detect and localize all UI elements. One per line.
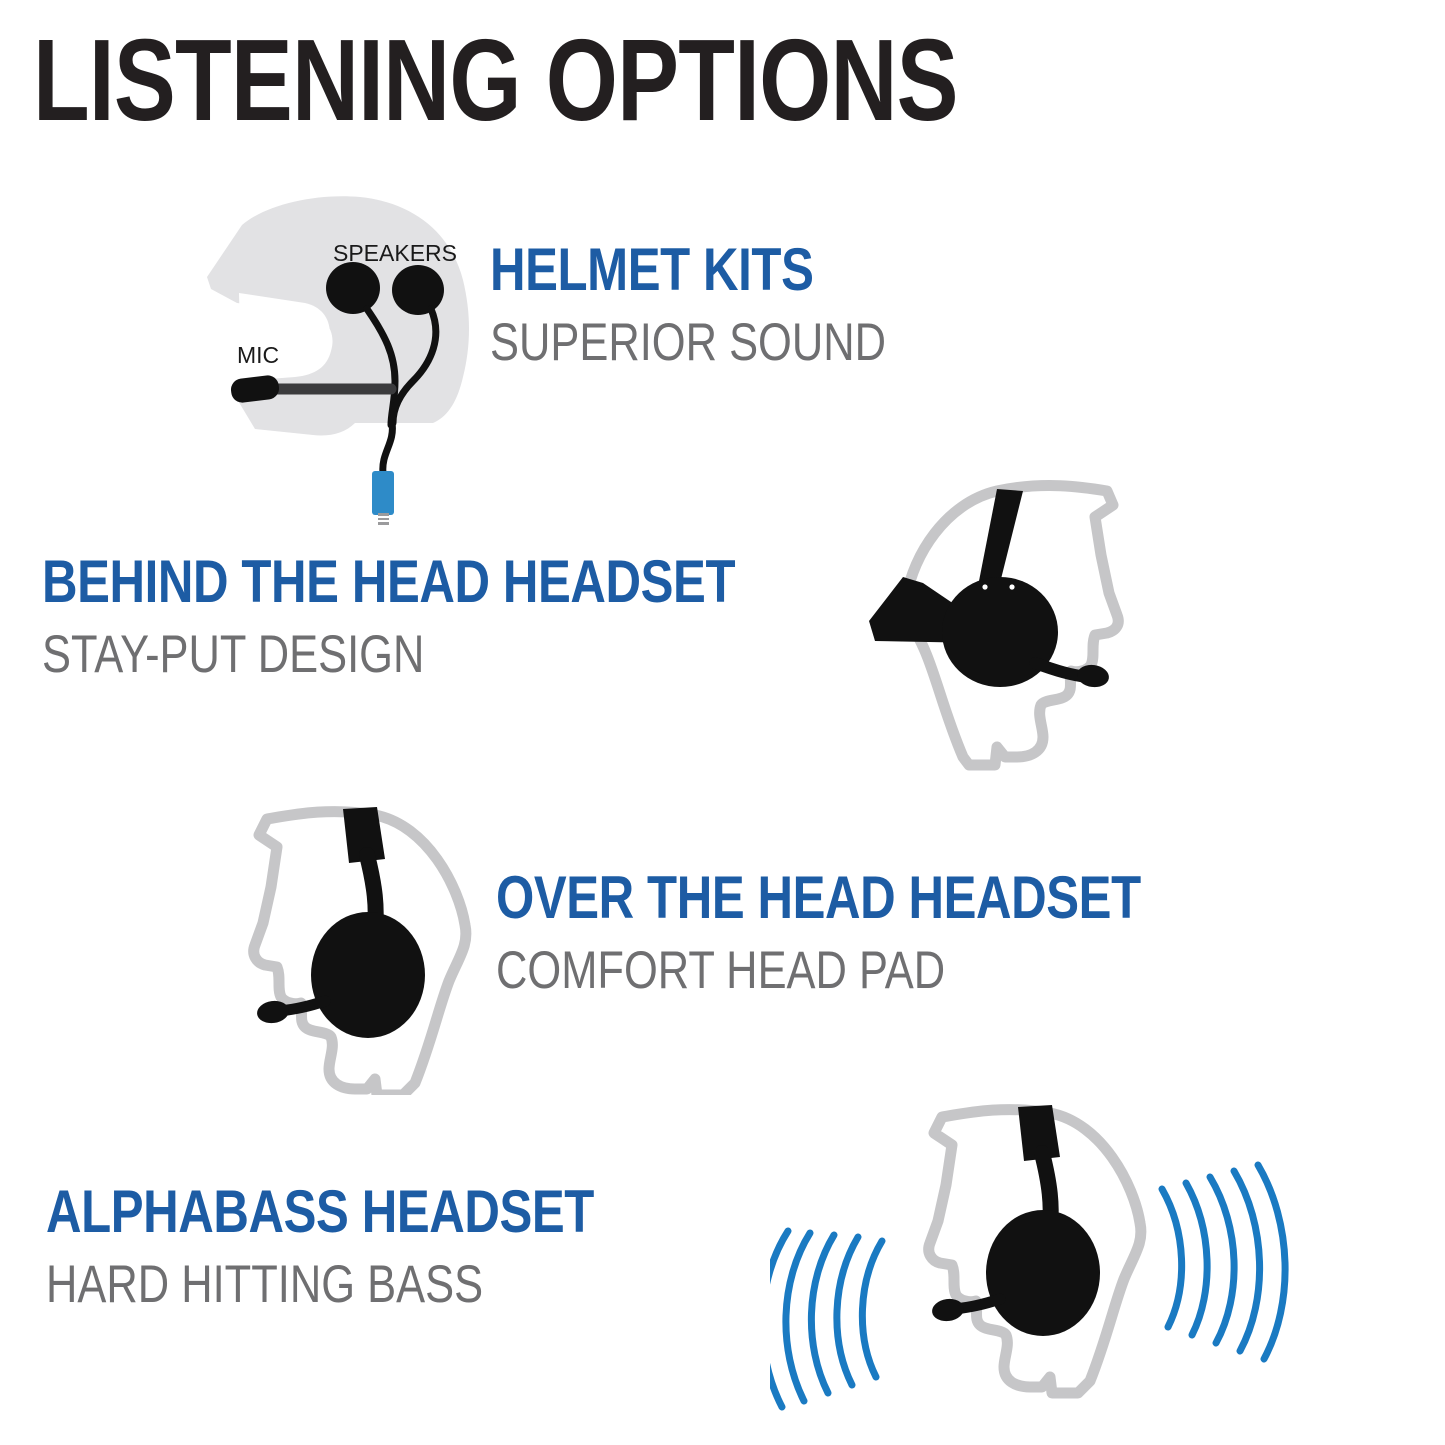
audio-jack-tip bbox=[378, 513, 389, 525]
infographic-canvas: LISTENING OPTIONS SPEAKERS MIC bbox=[0, 0, 1445, 1445]
option-title-over-the-head-headset: OVER THE HEAD HEADSET bbox=[496, 868, 1141, 928]
audio-jack-ring-1 bbox=[378, 516, 389, 518]
option-subtitle-behind-the-head-headset: STAY-PUT DESIGN bbox=[42, 628, 735, 681]
headset-top-strap bbox=[979, 489, 1023, 587]
alphabass-headset-illustration bbox=[770, 1085, 1290, 1430]
head-profile-outline-left bbox=[929, 1105, 1141, 1393]
speaker-right-circle bbox=[392, 265, 444, 315]
ear-cup-screw-left bbox=[982, 584, 987, 589]
behind-the-head-headset-illustration bbox=[845, 465, 1165, 785]
helmet-kit-illustration: SPEAKERS MIC bbox=[195, 185, 525, 525]
option-text-behind-the-head-headset: BEHIND THE HEAD HEADSET STAY-PUT DESIGN bbox=[42, 552, 887, 681]
mic-label: MIC bbox=[237, 342, 279, 368]
sound-waves-right bbox=[1162, 1165, 1285, 1359]
ear-cup-screw-right bbox=[1009, 584, 1014, 589]
option-text-over-the-head-headset: OVER THE HEAD HEADSET COMFORT HEAD PAD bbox=[496, 868, 1282, 997]
option-subtitle-alphabass-headset: HARD HITTING BASS bbox=[46, 1258, 594, 1311]
headset-cable bbox=[383, 423, 393, 473]
speaker-left-circle bbox=[326, 262, 380, 314]
sound-waves-left bbox=[770, 1231, 882, 1407]
option-title-behind-the-head-headset: BEHIND THE HEAD HEADSET bbox=[42, 552, 735, 612]
over-the-head-headset-illustration bbox=[225, 795, 525, 1095]
option-subtitle-over-the-head-headset: COMFORT HEAD PAD bbox=[496, 944, 1141, 997]
option-text-alphabass-headset: ALPHABASS HEADSET HARD HITTING BASS bbox=[46, 1182, 714, 1311]
audio-jack-ring-2 bbox=[378, 520, 389, 522]
option-subtitle-helmet-kits: SUPERIOR SOUND bbox=[490, 316, 886, 369]
option-text-helmet-kits: HELMET KITS SUPERIOR SOUND bbox=[490, 240, 973, 369]
option-title-helmet-kits: HELMET KITS bbox=[490, 240, 886, 300]
page-title: LISTENING OPTIONS bbox=[33, 22, 958, 138]
option-title-alphabass-headset: ALPHABASS HEADSET bbox=[46, 1182, 594, 1242]
headset-ear-cup bbox=[311, 912, 425, 1038]
headset-ear-cup bbox=[986, 1210, 1100, 1336]
audio-jack-body bbox=[372, 471, 394, 515]
